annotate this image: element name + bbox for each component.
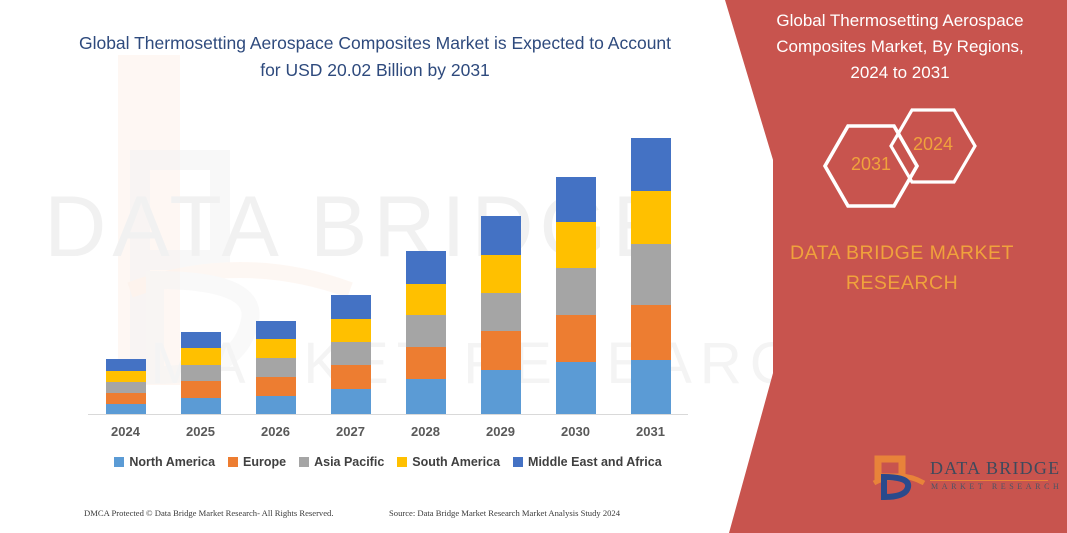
- bar-segment: [481, 370, 521, 415]
- bar-segment: [406, 284, 446, 315]
- bar-segment: [331, 365, 371, 389]
- legend-label: Asia Pacific: [314, 455, 384, 469]
- bar-segment: [481, 255, 521, 293]
- bar-segment: [481, 293, 521, 331]
- legend-swatch-icon: [397, 457, 407, 467]
- x-axis-labels: 20242025202620272028202920302031: [88, 421, 688, 445]
- bar-2026: [256, 321, 296, 415]
- bar-segment: [106, 393, 146, 404]
- bar-segment: [331, 389, 371, 415]
- data-bridge-logo-icon: [872, 455, 926, 501]
- legend-label: Europe: [243, 455, 286, 469]
- stacked-bar-chart: [88, 110, 688, 415]
- bar-2028: [406, 251, 446, 415]
- logo-subtitle: MARKET RESEARCH: [931, 482, 1062, 491]
- bar-2029: [481, 216, 521, 415]
- legend-swatch-icon: [114, 457, 124, 467]
- bar-segment: [181, 348, 221, 365]
- bar-segment: [481, 216, 521, 255]
- bar-segment: [556, 222, 596, 268]
- chart-legend: North AmericaEuropeAsia PacificSouth Ame…: [88, 455, 688, 469]
- bar-segment: [181, 365, 221, 381]
- bar-segment: [481, 331, 521, 370]
- bar-segment: [181, 332, 221, 348]
- legend-item[interactable]: Asia Pacific: [299, 455, 384, 469]
- x-axis-tick-2026: 2026: [246, 424, 306, 439]
- bar-segment: [556, 362, 596, 415]
- x-axis-tick-2031: 2031: [621, 424, 681, 439]
- bar-segment: [256, 339, 296, 358]
- bar-segment: [331, 319, 371, 342]
- bar-segment: [406, 315, 446, 347]
- bar-segment: [631, 138, 671, 191]
- legend-item[interactable]: South America: [397, 455, 500, 469]
- bar-segment: [256, 358, 296, 377]
- x-axis-line: [88, 414, 688, 415]
- bar-segment: [556, 315, 596, 362]
- page-title: Global Thermosetting Aerospace Composite…: [70, 30, 680, 84]
- x-axis-tick-2028: 2028: [396, 424, 456, 439]
- bar-segment: [556, 268, 596, 315]
- bar-segment: [106, 382, 146, 393]
- footer-source: Source: Data Bridge Market Research Mark…: [389, 508, 684, 518]
- legend-item[interactable]: North America: [114, 455, 215, 469]
- footer-copyright: DMCA Protected © Data Bridge Market Rese…: [84, 508, 389, 518]
- bar-segment: [106, 359, 146, 371]
- bar-segment: [256, 396, 296, 415]
- hexagon-2031-label: 2031: [825, 154, 917, 175]
- bar-2025: [181, 332, 221, 415]
- bar-segment: [631, 360, 671, 415]
- bar-segment: [106, 371, 146, 382]
- legend-swatch-icon: [228, 457, 238, 467]
- bar-2031: [631, 138, 671, 415]
- bar-segment: [406, 347, 446, 379]
- legend-item[interactable]: Middle East and Africa: [513, 455, 662, 469]
- footer: DMCA Protected © Data Bridge Market Rese…: [84, 508, 684, 518]
- hexagon-2024-label: 2024: [891, 134, 975, 155]
- bar-segment: [181, 381, 221, 398]
- legend-label: North America: [129, 455, 215, 469]
- legend-label: Middle East and Africa: [528, 455, 662, 469]
- data-bridge-logo: DATA BRIDGE MARKET RESEARCH: [872, 455, 1052, 503]
- bar-segment: [181, 398, 221, 415]
- x-axis-tick-2027: 2027: [321, 424, 381, 439]
- legend-swatch-icon: [299, 457, 309, 467]
- bar-segment: [331, 342, 371, 365]
- bar-segment: [406, 379, 446, 415]
- bar-segment: [406, 251, 446, 284]
- bar-segment: [256, 321, 296, 339]
- x-axis-tick-2030: 2030: [546, 424, 606, 439]
- bar-segment: [256, 377, 296, 396]
- bar-2030: [556, 177, 596, 415]
- panel-brand-text: DATA BRIDGE MARKET RESEARCH: [757, 238, 1047, 298]
- bar-segment: [331, 295, 371, 319]
- legend-swatch-icon: [513, 457, 523, 467]
- logo-title: DATA BRIDGE: [930, 458, 1060, 479]
- bar-segment: [631, 244, 671, 305]
- x-axis-tick-2025: 2025: [171, 424, 231, 439]
- bar-segment: [631, 191, 671, 244]
- panel-title: Global Thermosetting Aerospace Composite…: [755, 8, 1045, 86]
- legend-label: South America: [412, 455, 500, 469]
- hexagon-group: 2024 2031: [808, 108, 1028, 218]
- infographic-canvas: DATA BRIDGE MARKET RESEARCH Global Therm…: [0, 0, 1067, 533]
- bar-segment: [556, 177, 596, 222]
- bar-2024: [106, 359, 146, 415]
- bar-2027: [331, 295, 371, 415]
- x-axis-tick-2024: 2024: [96, 424, 156, 439]
- x-axis-tick-2029: 2029: [471, 424, 531, 439]
- legend-item[interactable]: Europe: [228, 455, 286, 469]
- bar-segment: [631, 305, 671, 360]
